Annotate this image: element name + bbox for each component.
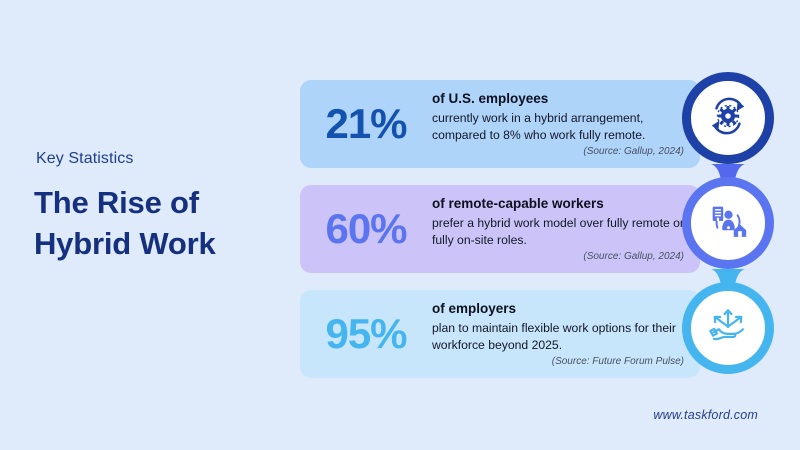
- stat-percent: 95%: [300, 313, 432, 355]
- stat-lead: of U.S. employees: [432, 91, 690, 107]
- stat-lead: of remote-capable workers: [432, 196, 690, 212]
- stat-card-list: 21% of U.S. employees currently work in …: [300, 80, 700, 395]
- eyebrow-label: Key Statistics: [36, 150, 294, 168]
- stat-body: prefer a hybrid work model over fully re…: [432, 215, 690, 247]
- stat-card: 60% of remote-capable workers prefer a h…: [300, 185, 700, 273]
- page-title: The Rise of Hybrid Work: [34, 182, 294, 264]
- infographic-canvas: Key Statistics The Rise of Hybrid Work 2…: [0, 0, 800, 450]
- stat-text: of employers plan to maintain flexible w…: [432, 301, 700, 367]
- icon-badge: [682, 177, 774, 269]
- stat-body: plan to maintain flexible work options f…: [432, 320, 690, 352]
- stat-source: (Source: Gallup, 2024): [432, 146, 684, 157]
- stat-percent: 60%: [300, 208, 432, 250]
- stat-lead: of employers: [432, 301, 690, 317]
- stat-card: 95% of employers plan to maintain flexib…: [300, 290, 700, 378]
- title-block: Key Statistics The Rise of Hybrid Work: [34, 150, 294, 264]
- stat-body: currently work in a hybrid arrangement, …: [432, 110, 690, 142]
- stat-source: (Source: Gallup, 2024): [432, 251, 684, 262]
- stat-text: of U.S. employees currently work in a hy…: [432, 91, 700, 157]
- headline-line-2: Hybrid Work: [34, 223, 294, 264]
- office-home-worker-icon: [705, 198, 751, 249]
- stat-percent: 21%: [300, 103, 432, 145]
- footer-url[interactable]: www.taskford.com: [653, 408, 758, 422]
- icon-badge: [682, 282, 774, 374]
- stat-card: 21% of U.S. employees currently work in …: [300, 80, 700, 168]
- headline-line-1: The Rise of: [34, 185, 199, 220]
- icon-chain: [672, 72, 784, 402]
- icon-badge: [682, 72, 774, 164]
- hand-flexible-arrows-icon: [705, 303, 751, 354]
- gear-cycle-icon: [705, 93, 751, 144]
- stat-text: of remote-capable workers prefer a hybri…: [432, 196, 700, 262]
- stat-source: (Source: Future Forum Pulse): [432, 356, 684, 367]
